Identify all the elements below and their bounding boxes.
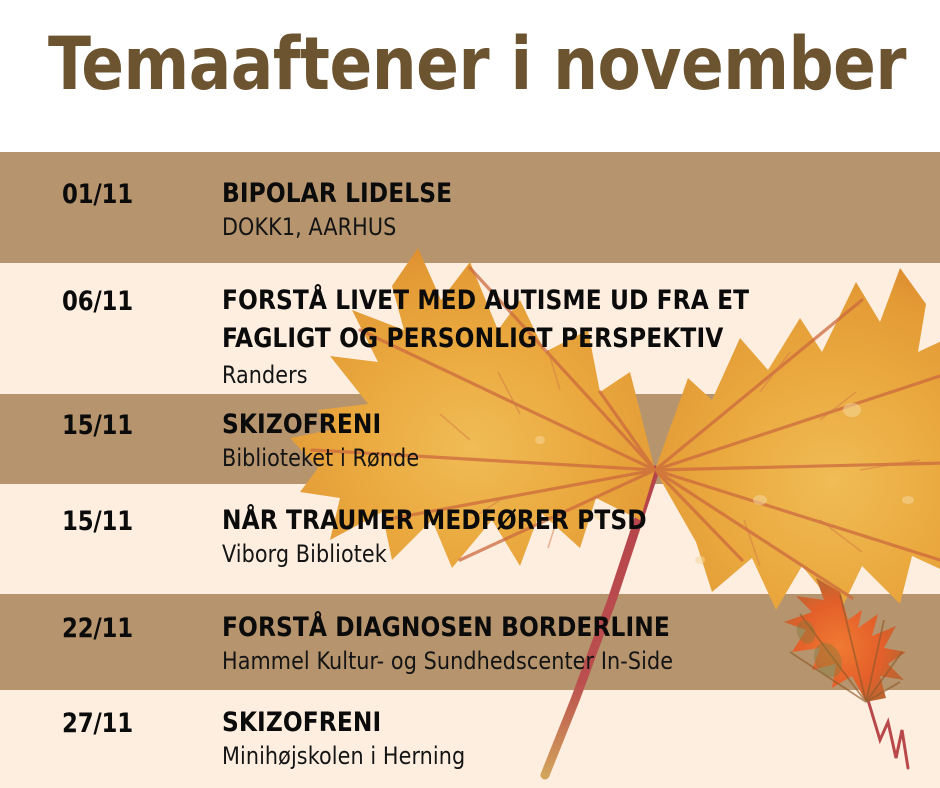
- band-row-5: [0, 594, 940, 690]
- band-row-3: [0, 394, 940, 484]
- band-row-2: [0, 263, 940, 394]
- band-stack: [0, 152, 940, 788]
- page-title: Temaaftener i november: [48, 26, 906, 104]
- band-row-1: [0, 152, 940, 263]
- header-strip: Temaaftener i november: [0, 0, 940, 152]
- band-row-6: [0, 690, 940, 788]
- poster-canvas: Temaaftener i november 01/11 BIPOLAR LID…: [0, 0, 940, 788]
- band-row-4: [0, 484, 940, 594]
